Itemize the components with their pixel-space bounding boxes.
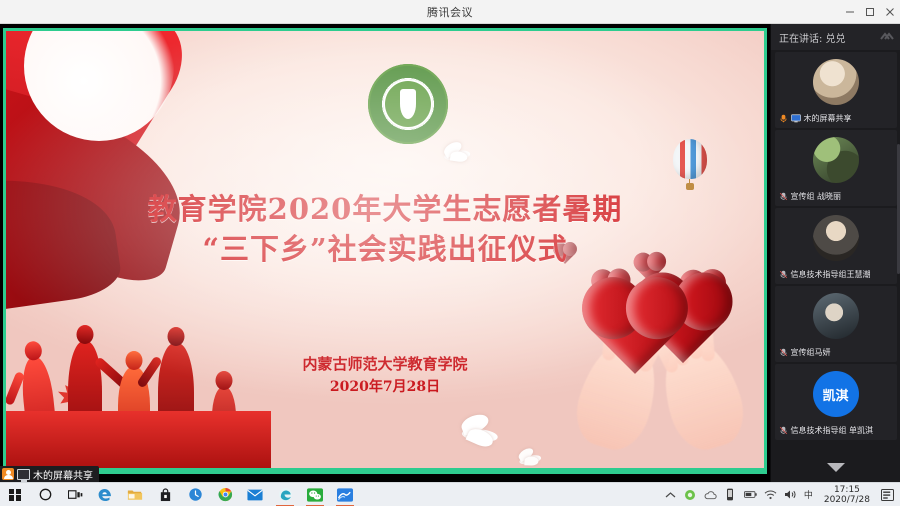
shared-screen-area[interactable]: 教育学院2020年大学生志愿者暑期 “三下乡”社会实践出征仪式 内蒙古师范大学教… <box>0 24 770 482</box>
wifi-icon[interactable] <box>764 488 777 501</box>
avatar <box>813 215 859 261</box>
edge-chromium-button[interactable] <box>270 483 300 506</box>
avatar <box>813 293 859 339</box>
clock-icon <box>188 487 203 502</box>
active-speaker-label: 正在讲话: 兑兑 <box>779 30 846 45</box>
chrome-icon <box>218 487 233 502</box>
presentation-slide: 教育学院2020年大学生志愿者暑期 “三下乡”社会实践出征仪式 内蒙古师范大学教… <box>6 31 764 471</box>
dove-icon <box>437 141 476 168</box>
minimize-icon[interactable] <box>840 0 860 24</box>
chevron-collapse-icon[interactable] <box>878 30 894 44</box>
participant-label: 信息技术指导组王慧潮 <box>779 269 893 280</box>
chrome-button[interactable] <box>210 483 240 506</box>
avatar-initials: 凯淇 <box>822 385 848 404</box>
avatar <box>813 137 859 183</box>
participant-tile[interactable]: 木的屏幕共享 <box>775 52 897 128</box>
avatar: 凯淇 <box>813 371 859 417</box>
tencent-meeting-button[interactable] <box>330 483 360 506</box>
participant-name: 信息技术指导组 单凯淇 <box>791 425 874 436</box>
mail-icon <box>247 489 263 501</box>
participant-tile[interactable]: 宣传组 战晓丽 <box>775 130 897 206</box>
onedrive-cloud-icon[interactable] <box>704 488 717 501</box>
shared-screen-frame: 教育学院2020年大学生志愿者暑期 “三下乡”社会实践出征仪式 内蒙古师范大学教… <box>3 28 767 474</box>
ime-indicator[interactable]: 中 <box>804 488 813 501</box>
microsoft-store-button[interactable] <box>150 483 180 506</box>
share-border-bottom <box>6 468 764 471</box>
mic-muted-icon <box>779 426 788 435</box>
screen-share-icon <box>791 114 801 123</box>
circle-icon <box>39 488 52 501</box>
store-bag-icon <box>159 488 172 502</box>
participant-label: 宣传组马妍 <box>779 347 893 358</box>
cortana-button[interactable] <box>30 483 60 506</box>
screen-share-badge-label: 木的屏幕共享 <box>33 467 93 482</box>
presenter-icon <box>2 468 14 480</box>
task-view-button[interactable] <box>60 483 90 506</box>
mic-muted-icon <box>779 270 788 279</box>
start-button[interactable] <box>0 483 30 506</box>
mic-muted-icon <box>779 192 788 201</box>
participant-name: 木的屏幕共享 <box>804 113 852 124</box>
windows-logo-icon <box>9 489 21 501</box>
meeting-body: 教育学院2020年大学生志愿者暑期 “三下乡”社会实践出征仪式 内蒙古师范大学教… <box>0 24 900 482</box>
screen-root: 腾讯会议 <box>0 0 900 506</box>
chevron-up-icon[interactable] <box>664 488 677 501</box>
wechat-button[interactable] <box>300 483 330 506</box>
chevron-down-icon[interactable] <box>827 463 845 472</box>
participant-name: 宣传组马妍 <box>791 347 831 358</box>
green-shield-icon[interactable] <box>684 488 697 501</box>
folder-icon <box>127 488 143 502</box>
volume-icon[interactable] <box>784 488 797 501</box>
avatar <box>813 59 859 105</box>
device-icon[interactable] <box>724 488 737 501</box>
participant-tile[interactable]: 信息技术指导组王慧潮 <box>775 208 897 284</box>
close-icon[interactable] <box>880 0 900 24</box>
clock-date: 2020/7/28 <box>824 495 870 505</box>
hot-air-balloon-icon <box>673 139 707 181</box>
edge-icon <box>97 487 113 503</box>
slide-title-line1: 教育学院2020年大学生志愿者暑期 <box>148 192 623 226</box>
participant-tile[interactable]: 凯淇 信息技术指导组 单凯淇 <box>775 364 897 440</box>
university-logo-icon <box>368 64 448 144</box>
participant-label: 信息技术指导组 单凯淇 <box>779 425 893 436</box>
window-title: 腾讯会议 <box>427 4 473 20</box>
window-controls <box>840 0 900 24</box>
active-speaker-bar: 正在讲话: 兑兑 <box>771 24 900 50</box>
taskbar-clock[interactable]: 17:15 2020/7/28 <box>820 485 874 505</box>
tencent-meeting-icon <box>337 488 353 502</box>
monitor-icon <box>17 469 30 480</box>
wechat-icon <box>307 488 323 502</box>
edge-legacy-button[interactable] <box>90 483 120 506</box>
alarms-clock-button[interactable] <box>180 483 210 506</box>
participant-name: 宣传组 战晓丽 <box>791 191 842 202</box>
windows-taskbar: 中 17:15 2020/7/28 <box>0 482 900 506</box>
window-titlebar: 腾讯会议 <box>0 0 900 24</box>
dove-icon <box>450 413 505 452</box>
mail-button[interactable] <box>240 483 270 506</box>
system-tray: 中 17:15 2020/7/28 <box>664 485 900 505</box>
participant-label: 木的屏幕共享 <box>779 113 893 124</box>
task-view-icon <box>68 489 83 501</box>
participant-tile[interactable]: 宣传组马妍 <box>775 286 897 362</box>
file-explorer-button[interactable] <box>120 483 150 506</box>
battery-icon[interactable] <box>744 488 757 501</box>
mic-muted-icon <box>779 348 788 357</box>
taskbar-icons <box>0 483 360 506</box>
slide-title: 教育学院2020年大学生志愿者暑期 “三下乡”社会实践出征仪式 <box>6 189 764 269</box>
screen-share-badge[interactable]: 木的屏幕共享 <box>0 466 99 482</box>
slide-title-line2: “三下乡”社会实践出征仪式 <box>6 229 764 269</box>
participant-label: 宣传组 战晓丽 <box>779 191 893 202</box>
slide-subtitle: 内蒙古师范大学教育学院 2020年7月28日 <box>6 353 764 399</box>
slide-date: 2020年7月28日 <box>6 376 764 399</box>
action-center-icon[interactable] <box>881 488 894 501</box>
participant-name: 信息技术指导组王慧潮 <box>791 269 871 280</box>
participants-panel: 正在讲话: 兑兑 木的屏幕共 <box>770 24 900 482</box>
clock-time: 17:15 <box>824 485 870 495</box>
edge-round-icon <box>278 487 293 502</box>
maximize-icon[interactable] <box>860 0 880 24</box>
mic-muted-icon <box>779 114 788 123</box>
